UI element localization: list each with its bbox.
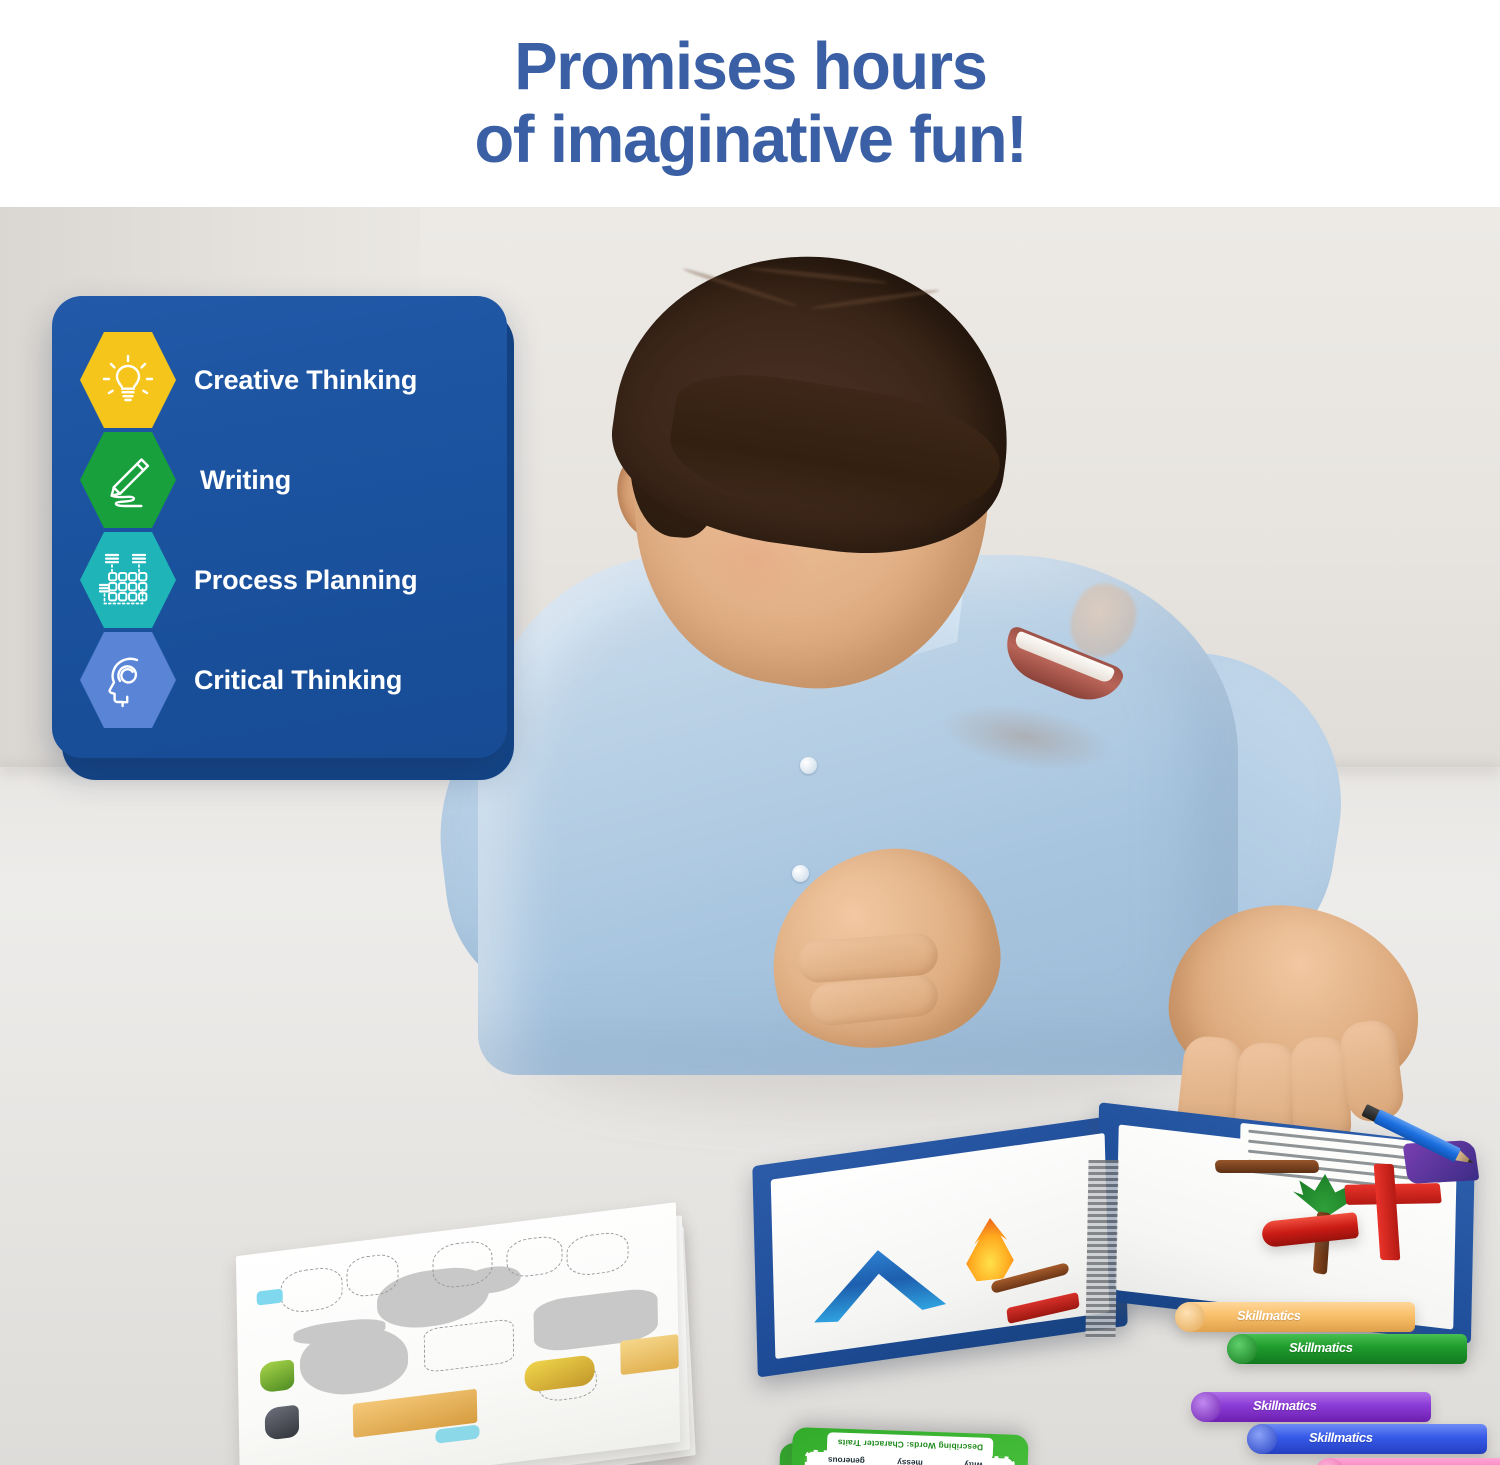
pencil-icon bbox=[80, 430, 176, 530]
branch-illustration bbox=[1215, 1160, 1320, 1173]
skill-row-critical-thinking: Critical Thinking bbox=[80, 630, 481, 730]
word-column: moodymysteriouspatientpoliteresponsibler… bbox=[947, 1461, 997, 1465]
green-marker: Skillmatics bbox=[1227, 1334, 1467, 1364]
head-spiral-icon bbox=[80, 630, 176, 730]
skill-label: Critical Thinking bbox=[194, 665, 402, 696]
child-figure: Skil bbox=[380, 237, 1320, 1067]
marker-brand-label: Skillmatics bbox=[1289, 1340, 1353, 1355]
sticker-sheet bbox=[236, 1202, 680, 1465]
trait-word: witty bbox=[950, 1459, 996, 1465]
marker-cap bbox=[1247, 1424, 1277, 1454]
trait-word: generous bbox=[823, 1455, 870, 1465]
skill-label: Process Planning bbox=[194, 565, 417, 596]
lightbulb-icon bbox=[80, 330, 176, 430]
word-column: gentlefriendlyharshhopefulhumblekindlazy… bbox=[891, 1459, 924, 1465]
word-column: adorableanxiousboastfulbravecharmingcour… bbox=[819, 1456, 869, 1465]
marker-cap bbox=[1315, 1458, 1345, 1465]
marker-cap bbox=[1175, 1302, 1205, 1332]
marker-pen-set: Skillmatics Skillmatics Skillmatics Skil… bbox=[1175, 1292, 1500, 1465]
book-spine bbox=[1085, 1160, 1118, 1338]
marker-brand-label: Skillmatics bbox=[1237, 1308, 1301, 1323]
headline-banner: Promises hours of imaginative fun! bbox=[0, 0, 1500, 207]
marker-cap bbox=[1227, 1334, 1257, 1364]
marker-cap bbox=[1191, 1392, 1221, 1422]
marker-brand-label: Skillmatics bbox=[1253, 1398, 1317, 1413]
skill-label: Creative Thinking bbox=[194, 365, 417, 396]
marker-brand-label: Skillmatics bbox=[1309, 1430, 1373, 1445]
grid-flow-icon bbox=[80, 530, 176, 630]
skill-row-writing: Writing bbox=[80, 430, 481, 530]
headline-line-1: Promises hours bbox=[514, 33, 986, 101]
sticker-sheets bbox=[238, 1225, 728, 1465]
skill-row-creative-thinking: Creative Thinking bbox=[80, 330, 481, 430]
describing-words-card-front: moodymysteriouspatientpoliteresponsibler… bbox=[787, 1427, 1028, 1465]
orange-marker: Skillmatics bbox=[1175, 1302, 1415, 1332]
purple-marker: Skillmatics bbox=[1191, 1392, 1431, 1422]
blue-marker: Skillmatics bbox=[1247, 1424, 1487, 1454]
shirt-button bbox=[792, 865, 809, 882]
skills-card: Creative Thinking Writing bbox=[52, 296, 507, 758]
skill-label: Writing bbox=[200, 465, 291, 496]
skill-row-process-planning: Process Planning bbox=[80, 530, 481, 630]
trait-word: messy bbox=[895, 1457, 925, 1465]
headline-line-2: of imaginative fun! bbox=[474, 106, 1026, 174]
shirt-button bbox=[800, 757, 817, 774]
pink-marker: Skillmatics bbox=[1315, 1458, 1500, 1465]
